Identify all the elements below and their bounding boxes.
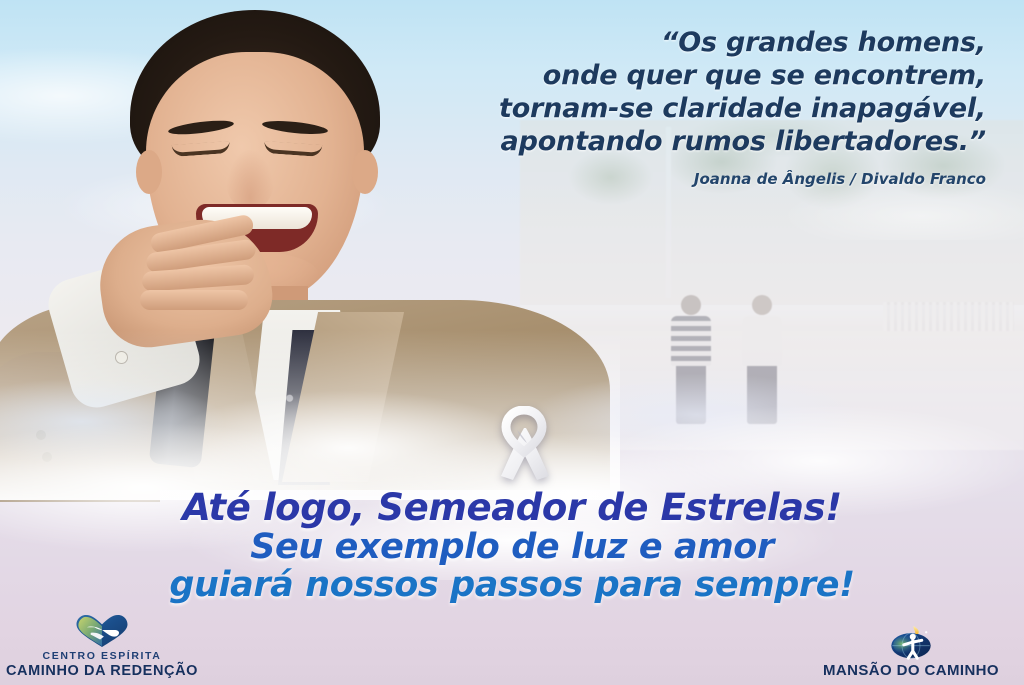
quote-line-1: “Os grandes homens,: [366, 26, 986, 59]
walker-torso: [671, 316, 711, 366]
walker-legs: [676, 366, 706, 424]
logo-mansao-do-caminho: MANSÃO DO CAMINHO: [806, 626, 1016, 679]
background-walker: [671, 295, 711, 424]
quote-line-4: apontando rumos libertadores.”: [366, 125, 986, 158]
quote-block: “Os grandes homens, onde quer que se enc…: [366, 26, 986, 188]
portrait-finger: [140, 290, 248, 310]
globe-figure-flame-icon: [806, 626, 1016, 660]
logo-centro-espirita: CENTRO ESPÍRITA CAMINHO DA REDENÇÃO: [4, 614, 200, 679]
quote-line-2: onde quer que se encontrem,: [366, 59, 986, 92]
background-walker: [742, 295, 782, 424]
logo-left-line-1: CENTRO ESPÍRITA: [4, 650, 200, 662]
headline-line-3: guiará nossos passos para sempre!: [0, 566, 1024, 604]
walker-torso: [742, 316, 782, 366]
background-fence: [883, 302, 1014, 332]
walker-legs: [747, 366, 777, 424]
portrait-ear-left: [136, 150, 162, 194]
headline-line-2: Seu exemplo de luz e amor: [0, 528, 1024, 566]
logo-left-line-2: CAMINHO DA REDENÇÃO: [4, 663, 200, 679]
mourning-ribbon: [487, 406, 561, 482]
headline-block: Até logo, Semeador de Estrelas! Seu exem…: [0, 488, 1024, 604]
quote-attribution: Joanna de Ângelis / Divaldo Franco: [366, 170, 986, 188]
walker-head: [681, 295, 701, 315]
tribute-poster: “Os grandes homens, onde quer que se enc…: [0, 0, 1024, 685]
portrait-nose: [226, 150, 274, 210]
quote-line-3: tornam-se claridade inapagável,: [366, 92, 986, 125]
logo-right-line-2: MANSÃO DO CAMINHO: [806, 662, 1016, 679]
walker-head: [752, 295, 772, 315]
ribbon-icon: [501, 410, 549, 480]
heart-hands-icon: [4, 614, 200, 648]
headline-line-1: Até logo, Semeador de Estrelas!: [0, 488, 1024, 528]
